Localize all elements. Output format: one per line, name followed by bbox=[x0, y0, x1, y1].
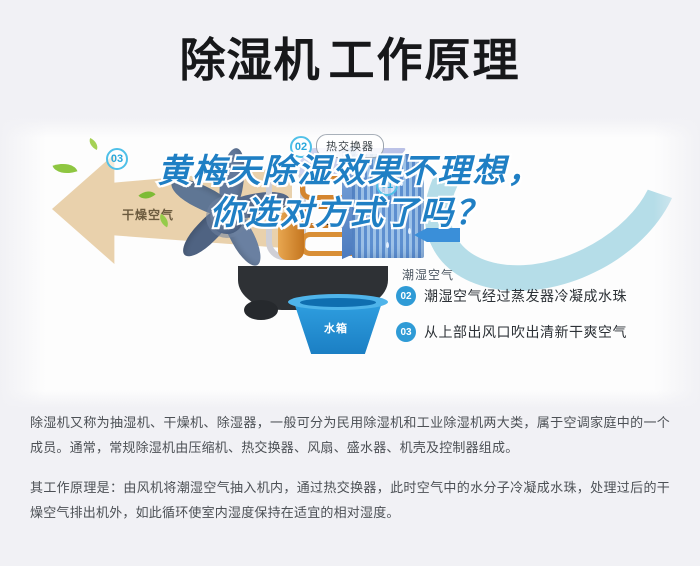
badge-dry-air: 03 bbox=[106, 148, 128, 170]
water-droplet-icon bbox=[400, 180, 403, 186]
dehumidifier-diagram: 干燥空气 bbox=[0, 118, 700, 408]
water-tank-label: 水箱 bbox=[324, 320, 348, 336]
page-title: 除湿机工作原理 bbox=[180, 37, 521, 83]
body-paragraph-1: 除湿机又称为抽湿机、干燥机、除湿器，一般可分为民用除湿机和工业除湿机两大类，属于… bbox=[30, 410, 670, 461]
body-paragraph-2: 其工作原理是：由风机将潮湿空气抽入机内，通过热交换器，此时空气中的水分子冷凝成水… bbox=[30, 475, 670, 526]
step-list: 02 潮湿空气经过蒸发器冷凝成水珠 03 从上部出风口吹出清新干爽空气 bbox=[396, 286, 627, 358]
article-page: 除湿机工作原理 干燥空气 bbox=[0, 0, 700, 566]
article-body: 除湿机又称为抽湿机、干燥机、除湿器，一般可分为民用除湿机和工业除湿机两大类，属于… bbox=[0, 410, 700, 539]
step-text: 潮湿空气经过蒸发器冷凝成水珠 bbox=[424, 286, 627, 306]
flow-arrow-up-icon bbox=[320, 214, 332, 225]
badge-heat-exchanger: 02 bbox=[290, 136, 312, 158]
figure-fade-bottom bbox=[0, 390, 700, 408]
water-droplet-icon bbox=[362, 172, 365, 178]
water-droplet-icon bbox=[370, 216, 373, 222]
water-droplet-icon bbox=[408, 228, 411, 234]
leaf-icon bbox=[87, 138, 100, 150]
step-text: 从上部出风口吹出清新干爽空气 bbox=[424, 322, 627, 342]
figure-fade-left bbox=[0, 118, 46, 408]
leaf-icon bbox=[53, 159, 78, 178]
step-number: 03 bbox=[396, 322, 416, 342]
figure-fade-top bbox=[0, 118, 700, 138]
water-droplet-icon bbox=[386, 242, 389, 248]
compressor-cylinder bbox=[278, 212, 304, 260]
step-number: 02 bbox=[396, 286, 416, 306]
badge-humid-air: 01 bbox=[376, 174, 398, 196]
page-title-part2: 工作原理 bbox=[329, 34, 521, 86]
diagram-canvas: 干燥空气 bbox=[0, 118, 700, 408]
page-title-part1: 除湿机 bbox=[180, 34, 321, 86]
caster-wheel bbox=[244, 300, 278, 320]
humid-air-label: 潮湿空气 bbox=[402, 266, 454, 283]
step-item: 02 潮湿空气经过蒸发器冷凝成水珠 bbox=[396, 286, 627, 306]
heat-exchanger-fins bbox=[352, 154, 424, 258]
step-item: 03 从上部出风口吹出清新干爽空气 bbox=[396, 322, 627, 342]
page-title-bar: 除湿机工作原理 bbox=[0, 0, 700, 120]
water-tank: 水箱 bbox=[290, 294, 386, 354]
water-tank-opening bbox=[300, 298, 376, 307]
fan-hub bbox=[210, 200, 244, 234]
